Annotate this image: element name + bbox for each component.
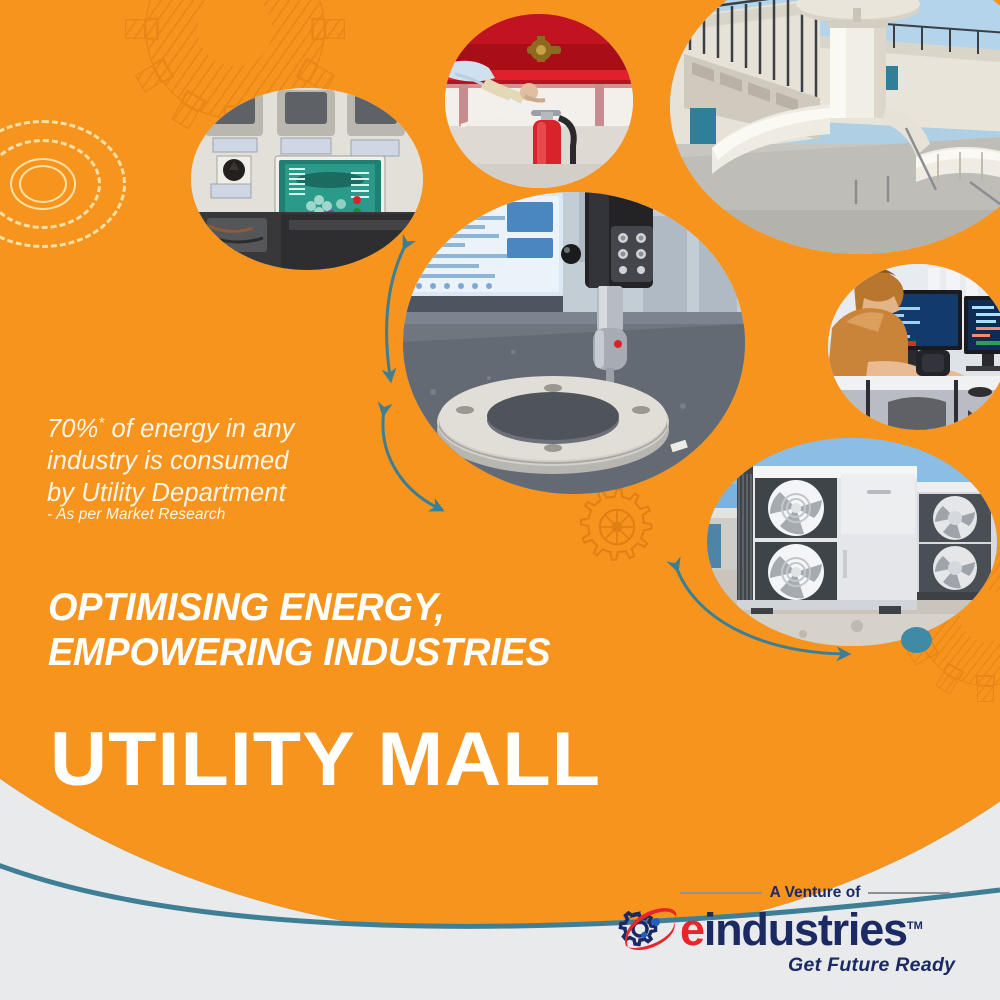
statistic-percent: 70% bbox=[47, 415, 98, 443]
photo-engineer-at-dual-monitors bbox=[828, 264, 1000, 430]
tagline-text: Get Future Ready bbox=[788, 954, 955, 977]
logo-row: eindustriesTM bbox=[618, 904, 923, 954]
wordmark-e: e bbox=[680, 904, 704, 955]
statistic-text: 70%* of energy in any industry is consum… bbox=[47, 413, 427, 509]
footer-branding: A Venture of eindustriesTM Get Future Re… bbox=[618, 884, 978, 984]
teal-dot-decor bbox=[901, 627, 932, 653]
statistic-line1-rest: of energy in any bbox=[104, 415, 294, 443]
poster-canvas: 70%* of energy in any industry is consum… bbox=[0, 0, 1000, 1000]
headline-line2: EMPOWERING INDUSTRIES bbox=[48, 631, 550, 674]
eindustries-gear-logo-icon bbox=[618, 904, 678, 954]
statistic-line3: by Utility Department bbox=[47, 479, 286, 507]
divider-right bbox=[868, 892, 950, 894]
wordmark-industries: industries bbox=[704, 904, 907, 955]
headline-line1: OPTIMISING ENERGY, bbox=[48, 586, 445, 629]
statistic-source: - As per Market Research bbox=[47, 506, 225, 524]
eindustries-wordmark: eindustriesTM bbox=[680, 907, 923, 952]
trademark-symbol: TM bbox=[907, 920, 923, 932]
page-title: UTILITY MALL bbox=[50, 722, 601, 798]
statistic-line2: industry is consumed bbox=[47, 447, 289, 475]
curved-double-arrow-left-icon bbox=[356, 216, 466, 396]
photo-fire-extinguisher-inspection bbox=[445, 14, 633, 188]
concentric-rings-decor bbox=[0, 118, 128, 250]
divider-left bbox=[680, 892, 762, 894]
headline-text: OPTIMISING ENERGY, EMPOWERING INDUSTRIES bbox=[48, 585, 727, 675]
venture-row: A Venture of bbox=[680, 884, 950, 902]
venture-label: A Venture of bbox=[770, 884, 861, 902]
